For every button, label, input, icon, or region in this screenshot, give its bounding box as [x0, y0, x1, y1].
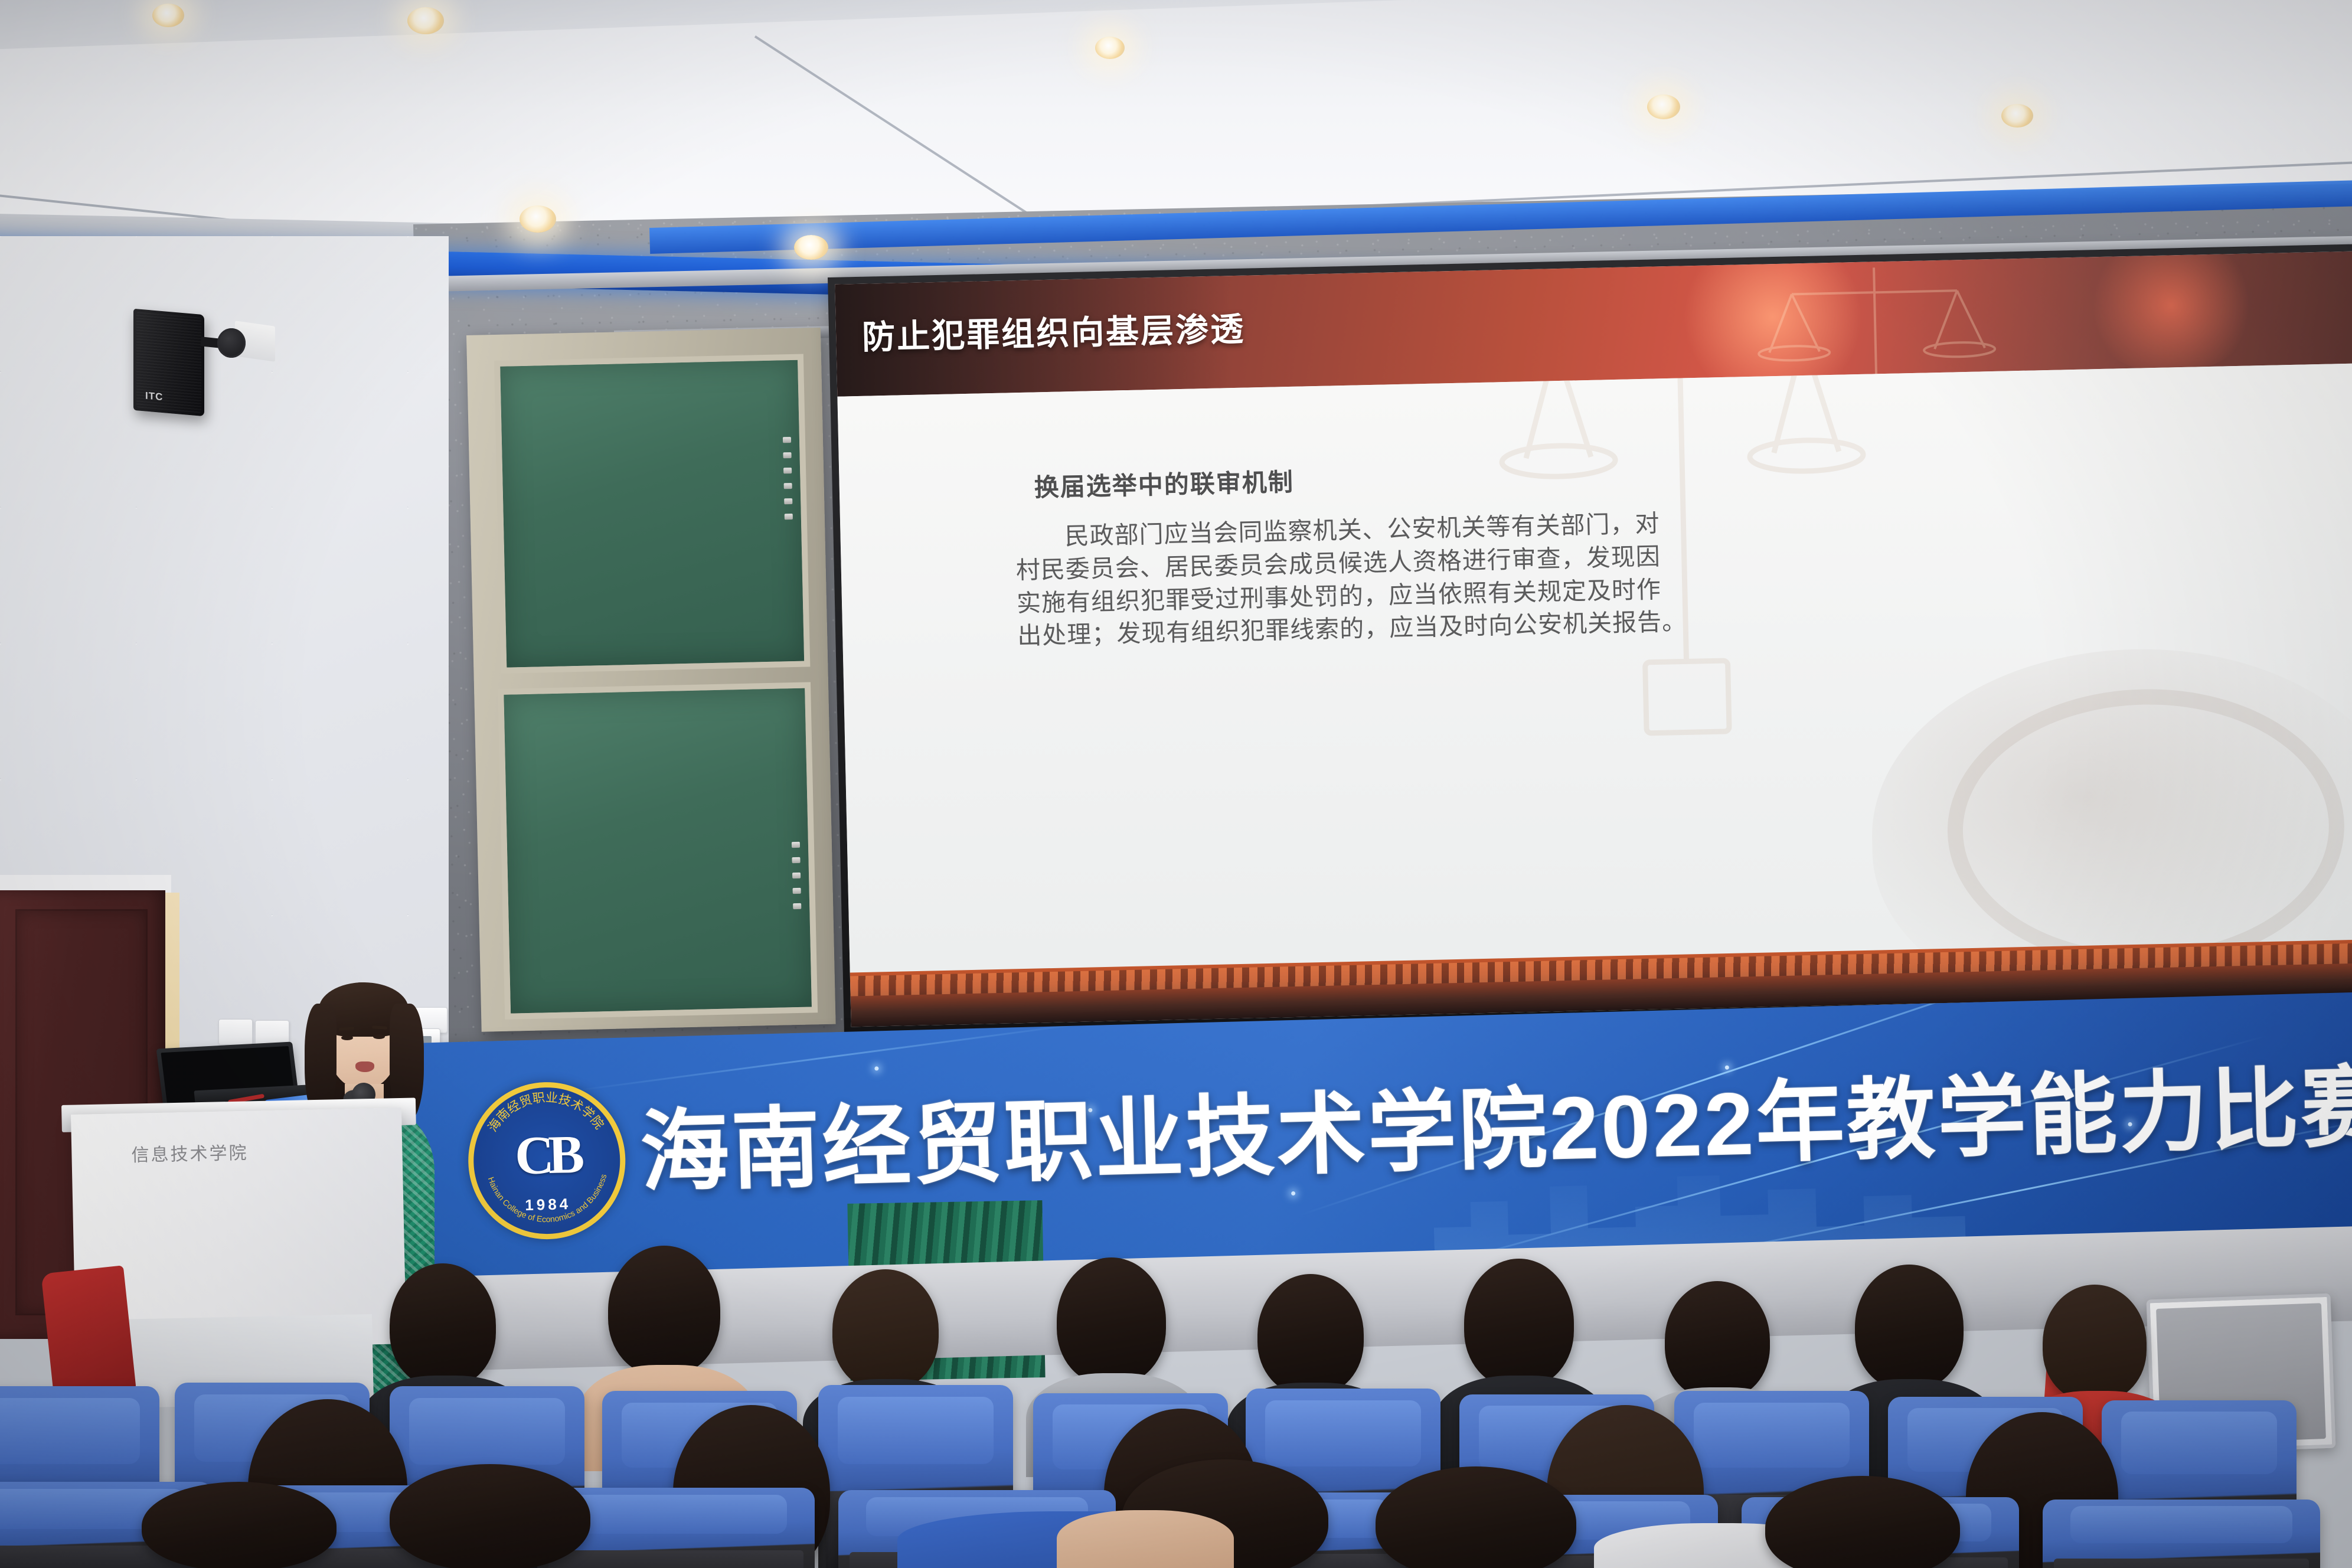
light-switch-plate[interactable]: [218, 1019, 253, 1045]
wall-speaker: ITC: [133, 309, 204, 416]
projection-screen: 防止犯罪组织向基层渗透: [828, 244, 2352, 1034]
presenter-mouth: [355, 1061, 374, 1072]
ceiling-downlight-icon: [1095, 37, 1125, 59]
lecture-hall-photo: ITC: [0, 0, 2352, 1568]
banner-title: 海南经贸职业技术学院2022年教学能力比赛: [639, 1035, 2352, 1209]
presenter-eye: [341, 1035, 353, 1040]
audience-head: [1464, 1259, 1574, 1387]
presentation-slide: 防止犯罪组织向基层渗透: [835, 251, 2352, 1027]
audience-head: [1665, 1281, 1770, 1399]
blackboard-clip: [792, 857, 800, 863]
blackboard-clip: [793, 903, 801, 909]
seat-cushion: [565, 1495, 787, 1534]
seat-cushion: [0, 1398, 140, 1464]
seat-cushion: [1265, 1400, 1421, 1466]
slide-paragraph: 民政部门应当会同监察机关、公安机关等有关部门，对 村民委员会、居民委员会成员候选…: [1015, 498, 2080, 653]
blackboard: [466, 328, 836, 1032]
ceiling-downlight-icon: [794, 235, 828, 260]
ceiling-downlight-icon: [520, 205, 556, 233]
seat-cushion: [1694, 1403, 1850, 1468]
blackboard-clip: [792, 873, 801, 878]
blackboard-clip: [784, 483, 792, 489]
slide-heading: 换届选举中的联审机制: [1034, 462, 1294, 504]
blackboard-clip: [793, 888, 801, 894]
audience-head: [1257, 1274, 1364, 1395]
seat-back-lower: [2054, 1559, 2309, 1568]
ceiling-downlight-icon: [152, 4, 184, 27]
audience-area: [0, 1228, 2352, 1568]
presenter-eye: [373, 1034, 385, 1039]
banner-sparkle: [874, 1066, 878, 1070]
blackboard-panel-lower: [498, 682, 818, 1019]
audience-head: [832, 1269, 939, 1390]
blackboard-panel-upper: [494, 354, 810, 674]
audience-head: [1057, 1257, 1166, 1384]
seat-back-lower: [548, 1550, 803, 1568]
school-logo: 海南经贸职业技术学院 Hainan College of Economics a…: [466, 1080, 628, 1242]
blackboard-clip: [783, 468, 792, 473]
slide-title: 防止犯罪组织向基层渗透: [861, 303, 1246, 359]
ceiling-downlight-icon: [407, 7, 444, 34]
seat-cushion: [2070, 1506, 2292, 1543]
speaker-mount-disc: [217, 328, 246, 358]
blackboard-clip: [785, 514, 793, 520]
blackboard-clip: [792, 842, 800, 848]
slide-body: 换届选举中的联审机制 民政部门应当会同监察机关、公安机关等有关部门，对 村民委员…: [837, 363, 2352, 972]
auditorium-seat[interactable]: [2043, 1500, 2320, 1568]
audience-shoulder: [1057, 1510, 1234, 1568]
blackboard-clip: [784, 498, 792, 504]
seat-cushion: [838, 1397, 994, 1464]
audience-head: [2043, 1285, 2147, 1402]
podium-label: 信息技术学院: [131, 1138, 249, 1167]
audience-head: [142, 1482, 337, 1568]
school-logo-year: 1984: [525, 1195, 571, 1214]
audience-head: [608, 1246, 720, 1376]
ceiling-beam: [0, 0, 2352, 53]
audience-head: [390, 1263, 496, 1387]
audience-head: [1855, 1265, 1964, 1390]
school-logo-monogram: CB: [514, 1123, 580, 1187]
blackboard-clip: [783, 452, 791, 458]
seat-cushion: [409, 1398, 565, 1465]
blackboard-clip: [783, 437, 791, 443]
audience-head: [390, 1464, 590, 1568]
ceiling-downlight-icon: [2001, 104, 2033, 128]
speaker-brand-label: ITC: [145, 390, 163, 404]
seat-cushion: [2121, 1412, 2277, 1474]
ceiling-downlight-icon: [1647, 94, 1680, 119]
